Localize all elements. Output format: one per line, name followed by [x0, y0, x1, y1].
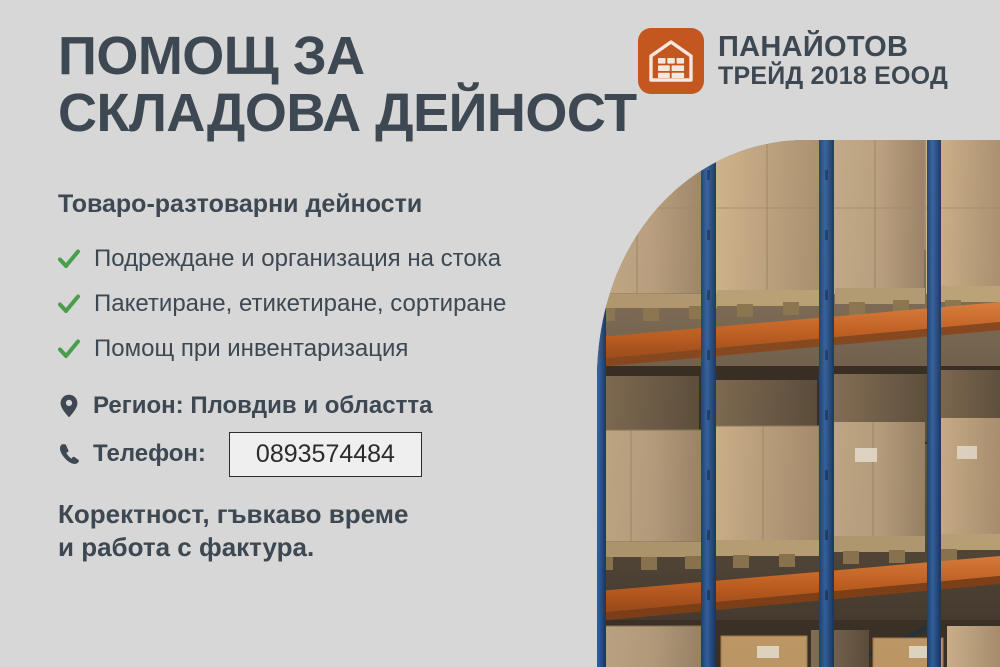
section-subtitle: Товаро-разтоварни дейности [58, 190, 422, 219]
region-row: Регион: Пловдив и областта [58, 382, 598, 430]
service-list: Подреждане и организация на стока Пакети… [58, 236, 618, 371]
phone-label: Телефон: [93, 440, 206, 468]
page-title: ПОМОЩ ЗА СКЛАДОВА ДЕЙНОСТ [58, 28, 678, 142]
brand-name: ПАНАЙОТОВ ТРЕЙД 2018 ЕООД [718, 32, 948, 90]
tagline: Коректност, гъвкаво време и работа с фак… [58, 498, 578, 565]
brand-logo: ПАНАЙОТОВ ТРЕЙД 2018 ЕООД [638, 28, 948, 94]
phone-row: Телефон: 0893574484 [58, 430, 598, 478]
brand-name-line1: ПАНАЙОТОВ [718, 32, 948, 63]
list-item-label: Помощ при инвентаризация [94, 335, 408, 363]
check-icon [58, 293, 80, 315]
advertisement-banner: ПОМОЩ ЗА СКЛАДОВА ДЕЙНОСТ ПАНАЙОТОВ ТРЕЙ… [0, 0, 1000, 667]
check-icon [58, 248, 80, 270]
warehouse-photo-image [597, 130, 1000, 667]
phone-icon [58, 441, 80, 467]
list-item: Пакетиране, етикетиране, сортиране [58, 281, 618, 326]
list-item: Подреждане и организация на стока [58, 236, 618, 281]
list-item-label: Пакетиране, етикетиране, сортиране [94, 290, 506, 318]
map-pin-icon [58, 393, 80, 419]
region-label: Регион: Пловдив и областта [93, 392, 432, 420]
brand-name-line2: ТРЕЙД 2018 ЕООД [718, 63, 948, 90]
list-item: Помощ при инвентаризация [58, 326, 618, 371]
warehouse-icon [638, 28, 704, 94]
warehouse-photo [597, 130, 1000, 667]
phone-number[interactable]: 0893574484 [229, 432, 422, 477]
check-icon [58, 338, 80, 360]
list-item-label: Подреждане и организация на стока [94, 245, 501, 273]
contact-block: Регион: Пловдив и областта Телефон: 0893… [58, 382, 598, 478]
